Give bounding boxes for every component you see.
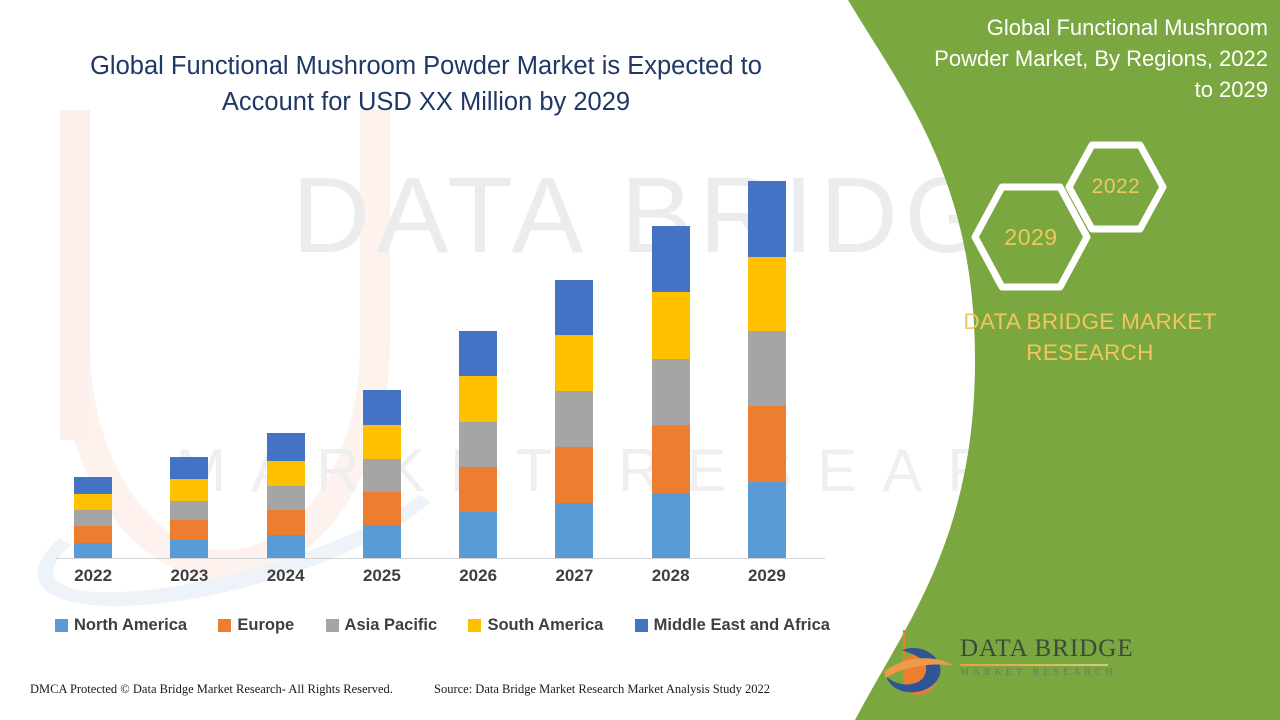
bar-segment [652,359,690,425]
chart-legend: North AmericaEuropeAsia PacificSouth Ame… [55,616,830,635]
bar-segment [555,447,593,503]
bar-segment [748,257,786,331]
bar-stack [652,226,690,559]
legend-label: North America [74,616,187,635]
legend-item[interactable]: Middle East and Africa [635,616,830,635]
bar-segment [170,520,208,539]
chart-plot-area [55,150,825,559]
bar-stack [267,433,305,559]
bar-segment [170,540,208,559]
bar-segment [748,482,786,559]
infographic-page: DATA BRIDGE MARKET RESEARCH Global Funct… [0,0,1280,720]
bar-segment [459,376,497,422]
bar-segment [748,181,786,258]
legend-item[interactable]: South America [468,616,603,635]
hexagon-2022: 2022 [1064,140,1168,234]
x-axis-tick-label: 2025 [342,566,422,586]
data-bridge-logo: DATA BRIDGE MARKET RESEARCH [880,628,1140,700]
logo-divider [960,664,1108,666]
page-title: Global Functional Mushroom Powder Market… [56,48,796,120]
bar-segment [363,390,401,425]
bar-segment [267,461,305,487]
bar-stack [74,477,112,559]
legend-label: South America [487,616,603,635]
hexagon-group: 2029 2022 [960,140,1190,300]
bar-segment [267,510,305,536]
bar-stack [555,280,593,559]
bar-stack [363,390,401,559]
bar-stack [748,181,786,559]
x-axis-tick-label: 2022 [53,566,133,586]
brand-name: DATA BRIDGE MARKET RESEARCH [910,306,1270,368]
legend-swatch-icon [218,619,231,632]
logo-b-icon [880,628,958,698]
bar-segment [555,280,593,335]
legend-swatch-icon [326,619,339,632]
bar-segment [267,486,305,510]
bar-segment [170,501,208,520]
x-axis-tick-label: 2026 [438,566,518,586]
legend-swatch-icon [468,619,481,632]
legend-item[interactable]: Europe [218,616,294,635]
hexagon-2029-label: 2029 [1004,224,1057,251]
logo-subtitle: MARKET RESEARCH [960,668,1140,678]
bar-segment [555,503,593,559]
x-axis-tick-label: 2023 [149,566,229,586]
x-axis-tick-label: 2029 [727,566,807,586]
x-axis-tick-label: 2028 [631,566,711,586]
bar-segment [459,467,497,512]
bar-segment [652,292,690,358]
chart-x-axis-labels: 20222023202420252026202720282029 [55,566,825,596]
bar-segment [363,525,401,559]
logo-wordmark: DATA BRIDGE MARKET RESEARCH [960,636,1140,678]
legend-item[interactable]: North America [55,616,187,635]
bar-segment [74,510,112,526]
bar-segment [652,493,690,559]
x-axis-tick-label: 2027 [534,566,614,586]
logo-title: DATA BRIDGE [960,636,1140,661]
bar-segment [652,425,690,492]
panel-title: Global Functional Mushroom Powder Market… [912,12,1268,106]
bar-stack [459,331,497,559]
bar-segment [267,535,305,559]
bar-segment [363,459,401,492]
bar-segment [555,391,593,446]
footer-copyright: DMCA Protected © Data Bridge Market Rese… [30,682,393,697]
bar-segment [363,492,401,526]
bar-segment [555,335,593,391]
x-axis-tick-label: 2024 [246,566,326,586]
bar-segment [652,226,690,292]
bar-segment [748,331,786,406]
panel-content: Global Functional Mushroom Powder Market… [900,0,1280,720]
bar-segment [459,422,497,467]
legend-swatch-icon [635,619,648,632]
bar-stack [170,457,208,559]
bar-segment [459,331,497,376]
footer-source: Source: Data Bridge Market Research Mark… [434,682,770,697]
legend-label: Middle East and Africa [654,616,830,635]
chart-x-axis-line [55,558,825,559]
bar-segment [74,477,112,493]
legend-swatch-icon [55,619,68,632]
bar-segment [459,512,497,559]
bar-segment [363,425,401,459]
bar-segment [748,406,786,483]
legend-item[interactable]: Asia Pacific [326,616,438,635]
hexagon-2022-label: 2022 [1092,175,1141,199]
bar-segment [267,433,305,461]
bar-segment [74,494,112,510]
bar-segment [74,526,112,542]
legend-label: Europe [237,616,294,635]
footer: DMCA Protected © Data Bridge Market Rese… [0,682,850,712]
bar-segment [170,479,208,500]
bar-segment [74,543,112,559]
bar-segment [170,457,208,479]
legend-label: Asia Pacific [345,616,438,635]
